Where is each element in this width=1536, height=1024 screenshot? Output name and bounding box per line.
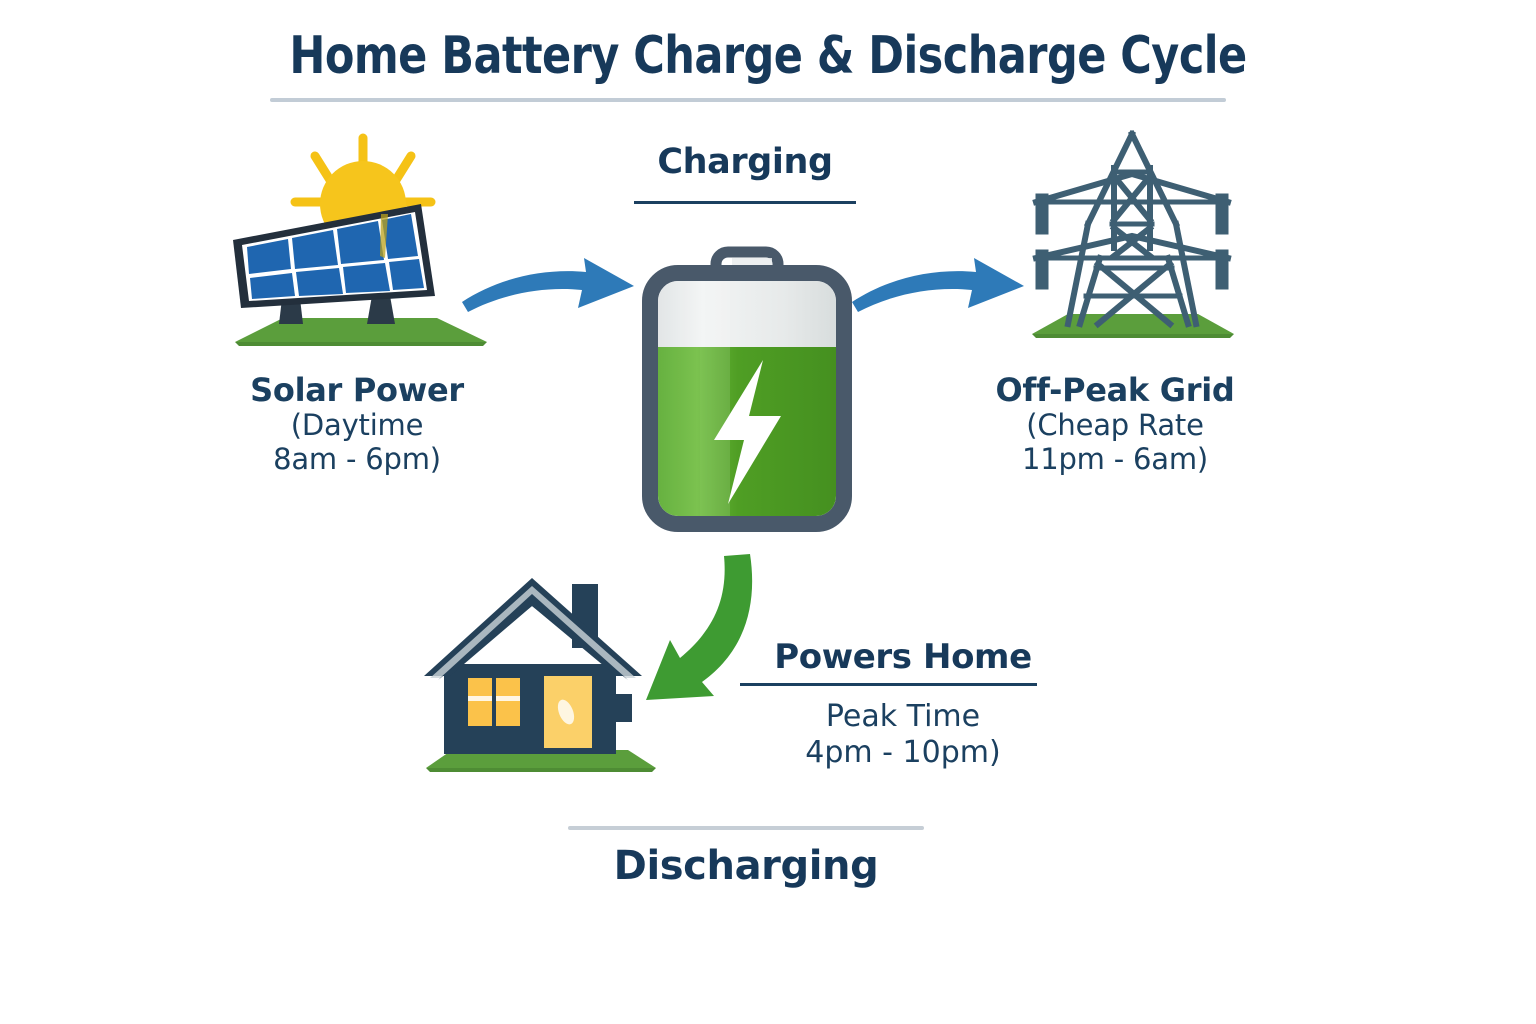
powers-home-rule <box>740 683 1037 686</box>
grass-mound <box>235 318 487 342</box>
home-node <box>420 572 660 782</box>
solar-power-node <box>225 130 495 360</box>
off-peak-grid-node <box>1022 128 1242 350</box>
transmission-tower-icon <box>1022 128 1242 350</box>
house-icon <box>420 572 660 782</box>
window-pane-right <box>496 678 520 726</box>
discharging-rule <box>568 826 924 830</box>
arrow-shape <box>852 258 1024 312</box>
off-peak-grid-subline-2: 11pm - 6am) <box>980 443 1250 477</box>
solar-panel-with-sun-icon <box>225 130 495 360</box>
powers-home-label: Powers Home <box>738 637 1068 677</box>
home-battery-node <box>640 248 854 548</box>
solar-power-label: Solar Power <box>222 372 492 409</box>
title-divider <box>270 98 1226 102</box>
battery-charging-icon <box>640 248 854 548</box>
window-pane-left <box>468 678 492 726</box>
grass-shadow <box>1032 334 1234 338</box>
off-peak-grid-caption: Off-Peak Grid (Cheap Rate 11pm - 6am) <box>980 372 1250 476</box>
peak-time-caption: Peak Time 4pm - 10pm) <box>738 699 1068 771</box>
infographic-canvas: Home Battery Charge & Discharge Cycle <box>0 0 1536 1024</box>
charging-label: Charging <box>595 142 895 182</box>
solar-power-caption: Solar Power (Daytime 8am - 6pm) <box>222 372 492 476</box>
page-title: Home Battery Charge & Discharge Cycle <box>61 26 1474 86</box>
battery-gloss-stripe <box>700 281 730 517</box>
discharging-label: Discharging <box>546 843 946 889</box>
arrow-shape <box>462 258 634 312</box>
grass-mound <box>1032 314 1234 334</box>
solar-power-subline-2: 8am - 6pm) <box>222 443 492 477</box>
off-peak-grid-subline-1: (Cheap Rate <box>980 409 1250 443</box>
off-peak-grid-label: Off-Peak Grid <box>980 372 1250 409</box>
peak-time-subline-1: Peak Time <box>738 699 1068 735</box>
peak-time-subline-2: 4pm - 10pm) <box>738 735 1068 771</box>
solar-power-subline-1: (Daytime <box>222 409 492 443</box>
arrow-shape <box>646 554 752 700</box>
grass-shadow <box>235 342 487 346</box>
arrow-battery-to-grid <box>848 252 1038 332</box>
battery-gloss-left <box>658 281 700 517</box>
grass-shadow <box>426 768 656 772</box>
window-mullion-right <box>496 696 520 701</box>
pylon-lattice <box>1036 134 1228 324</box>
window-mullion-left <box>468 696 492 701</box>
charging-rule <box>634 201 856 204</box>
arrow-solar-to-battery <box>458 252 648 332</box>
